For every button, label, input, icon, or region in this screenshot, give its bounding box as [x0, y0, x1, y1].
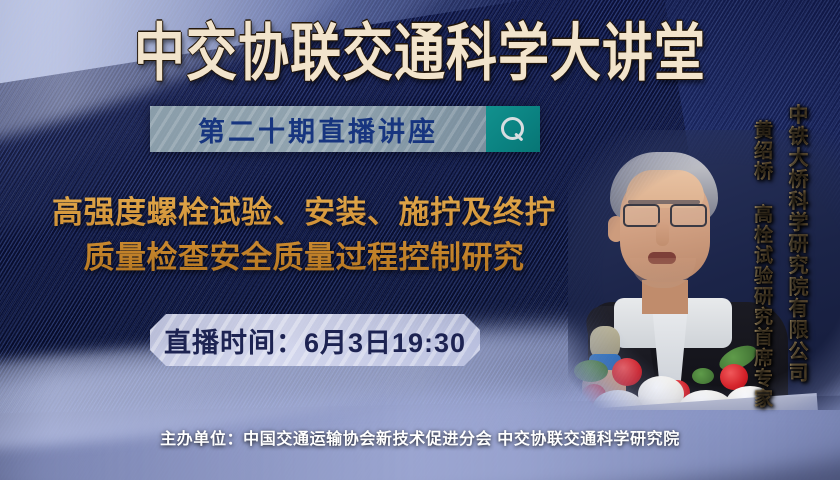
photo-glasses	[622, 204, 708, 223]
broadcast-time-label: 直播时间：6月3日19:30	[164, 321, 466, 360]
lecture-headline: 高强度螺栓试验、安装、施拧及终拧 质量检查安全质量过程控制研究	[8, 190, 600, 280]
episode-bar: 第二十期直播讲座	[150, 106, 540, 152]
speaker-organization: 中铁大桥科学研究院有限公司	[782, 104, 811, 384]
speaker-name-role: 黄绍桥 高栓试验研究首席专家	[748, 120, 775, 409]
broadcast-time-banner: 直播时间：6月3日19:30	[150, 314, 480, 366]
livestream-poster: 中交协联交通科学大讲堂 第二十期直播讲座 高强度螺栓试验、安装、施拧及终拧 质量…	[0, 0, 840, 480]
search-icon	[501, 117, 525, 141]
flower-leaf	[574, 360, 608, 382]
episode-label: 第二十期直播讲座	[198, 110, 438, 149]
flower-leaf	[692, 368, 714, 384]
headline-line-1: 高强度螺栓试验、安装、施拧及终拧	[52, 195, 556, 230]
organizer-footer: 主办单位：中国交通运输协会新技术促进分会 中交协联交通科学研究院	[0, 425, 840, 449]
photo-nose	[656, 222, 669, 246]
search-button[interactable]	[486, 106, 540, 152]
headline-line-2: 质量检查安全质量过程控制研究	[8, 235, 600, 280]
episode-bar-body: 第二十期直播讲座	[150, 106, 486, 152]
flower-red	[612, 358, 642, 386]
page-title: 中交协联交通科学大讲堂	[0, 17, 840, 90]
